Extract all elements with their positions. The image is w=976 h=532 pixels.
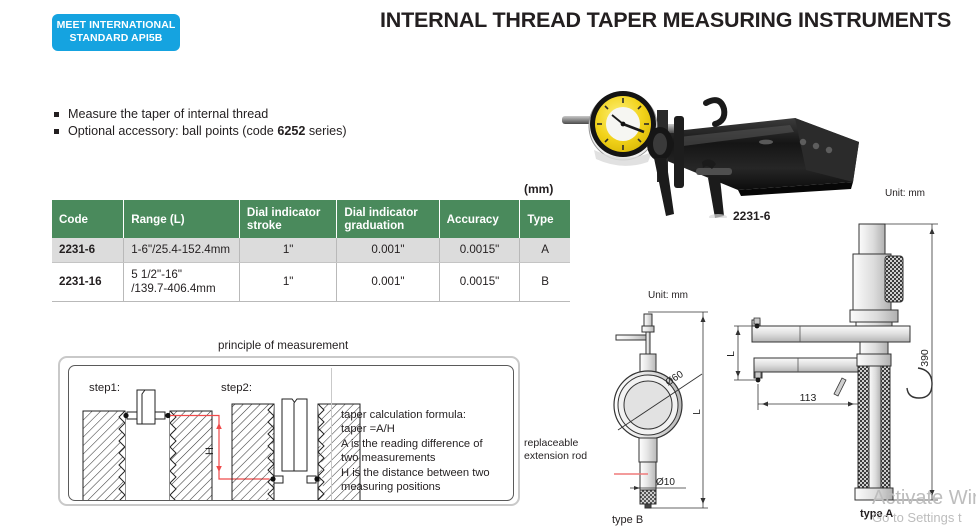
specification-table: Code Range (L) Dial indicator stroke Dia… (52, 200, 570, 302)
drawing-a-caption: type A (860, 508, 893, 520)
cell-range-line-1: 5 1/2"-16" (131, 268, 232, 282)
table-row: 2231-16 5 1/2"-16" /139.7-406.4mm 1" 0.0… (52, 263, 570, 302)
drawing-a-grip (855, 354, 893, 500)
header-line-1: Dial indicator (344, 206, 431, 219)
principle-inner-frame: step1: step2: (68, 365, 514, 501)
column-header-range: Range (L) (124, 200, 240, 238)
taper-formula-text: taper calculation formula: taper =A/H A … (341, 408, 490, 494)
drawing-a-height-value: 390 (919, 349, 931, 367)
drawing-b-caption: type B (612, 514, 643, 526)
page-title: INTERNAL THREAD TAPER MEASURING INSTRUME… (380, 8, 940, 33)
cell-type: A (520, 238, 570, 263)
cell-range: 1-6"/25.4-152.4mm (124, 238, 240, 263)
cell-range: 5 1/2"-16" /139.7-406.4mm (124, 263, 240, 302)
cell-range-line-2: /139.7-406.4mm (131, 282, 232, 296)
column-header-code: Code (52, 200, 124, 238)
principle-panel: step1: step2: (58, 356, 520, 506)
replaceable-rod-note: replaceableextension rod (524, 437, 587, 463)
bullet-text-tail: series) (305, 124, 346, 138)
drawing-a-lower-probe (755, 372, 761, 382)
cell-accuracy: 0.0015" (439, 238, 520, 263)
drawing-b-length-label: L (692, 409, 703, 415)
badge-line-2: STANDARD API5B (56, 32, 176, 45)
cell-accuracy: 0.0015" (439, 263, 520, 302)
badge-line-1: MEET INTERNATIONAL (56, 19, 176, 32)
panel-divider (331, 368, 332, 500)
drawing-a-lock-lever (834, 378, 846, 396)
cell-range-line-1: 1-6"/25.4-152.4mm (131, 243, 232, 257)
drawing-a-upper-probe (754, 318, 760, 328)
drawing-b-stem (616, 314, 656, 372)
cell-graduation: 0.001" (337, 263, 439, 302)
drawing-a-length-label: L (725, 351, 737, 357)
product-photo (548, 58, 888, 218)
cell-type: B (520, 263, 570, 302)
bullet-text: Measure the taper of internal thread (68, 107, 268, 121)
technical-drawing-type-b: Ø60 Ø10 L (590, 302, 740, 514)
bullet-code: 6252 (277, 124, 305, 138)
drawing-a-lower-arm (754, 358, 860, 378)
list-item: Optional accessory: ball points (code 62… (52, 123, 347, 140)
header-line-1: Dial indicator (247, 206, 329, 219)
step2-right-probe (294, 399, 320, 483)
instrument-barrel (660, 118, 859, 196)
cell-stroke: 1" (239, 238, 336, 263)
column-header-accuracy: Accuracy (439, 200, 520, 238)
cell-code: 2231-6 (52, 238, 124, 263)
drawing-a-reach-value: 113 (800, 392, 817, 404)
list-item: Measure the taper of internal thread (52, 106, 347, 123)
dimension-h-label: H (204, 447, 216, 455)
lever-hook (706, 100, 724, 124)
drawing-a-hook (907, 368, 932, 398)
clamp-collar (647, 127, 673, 161)
dial-indicator (562, 91, 657, 166)
column-header-stroke: Dial indicator stroke (239, 200, 336, 238)
drawing-b-dia10: Ø10 (630, 477, 686, 490)
catalog-page: MEET INTERNATIONAL STANDARD API5B INTERN… (0, 0, 976, 532)
header-line-2: graduation (344, 219, 431, 232)
bullet-text: Optional accessory: ball points (code (68, 124, 277, 138)
header-line-1: Code (59, 213, 116, 226)
column-header-graduation: Dial indicator graduation (337, 200, 439, 238)
header-line-2: stroke (247, 219, 329, 232)
technical-drawing-type-a: 390 L 113 (722, 198, 976, 510)
step1-right-thread (170, 411, 212, 501)
drawing-b-rod (639, 438, 657, 508)
table-header-row: Code Range (L) Dial indicator stroke Dia… (52, 200, 570, 238)
header-line-1: Range (L) (131, 213, 232, 226)
feature-list: Measure the taper of internal thread Opt… (52, 106, 347, 140)
standard-badge: MEET INTERNATIONAL STANDARD API5B (52, 14, 180, 51)
step1-right-probe (142, 390, 171, 424)
cell-graduation: 0.001" (337, 238, 439, 263)
header-line-1: Accuracy (447, 213, 513, 226)
principle-caption: principle of measurement (218, 339, 348, 352)
drawing-b-unit-label: Unit: mm (648, 290, 688, 301)
table-row: 2231-6 1-6"/25.4-152.4mm 1" 0.001" 0.001… (52, 238, 570, 263)
step2-left-thread (232, 404, 274, 501)
cell-stroke: 1" (239, 263, 336, 302)
step1-left-thread (83, 411, 125, 501)
svg-text:Ø10: Ø10 (656, 477, 675, 488)
cell-code: 2231-16 (52, 263, 124, 302)
